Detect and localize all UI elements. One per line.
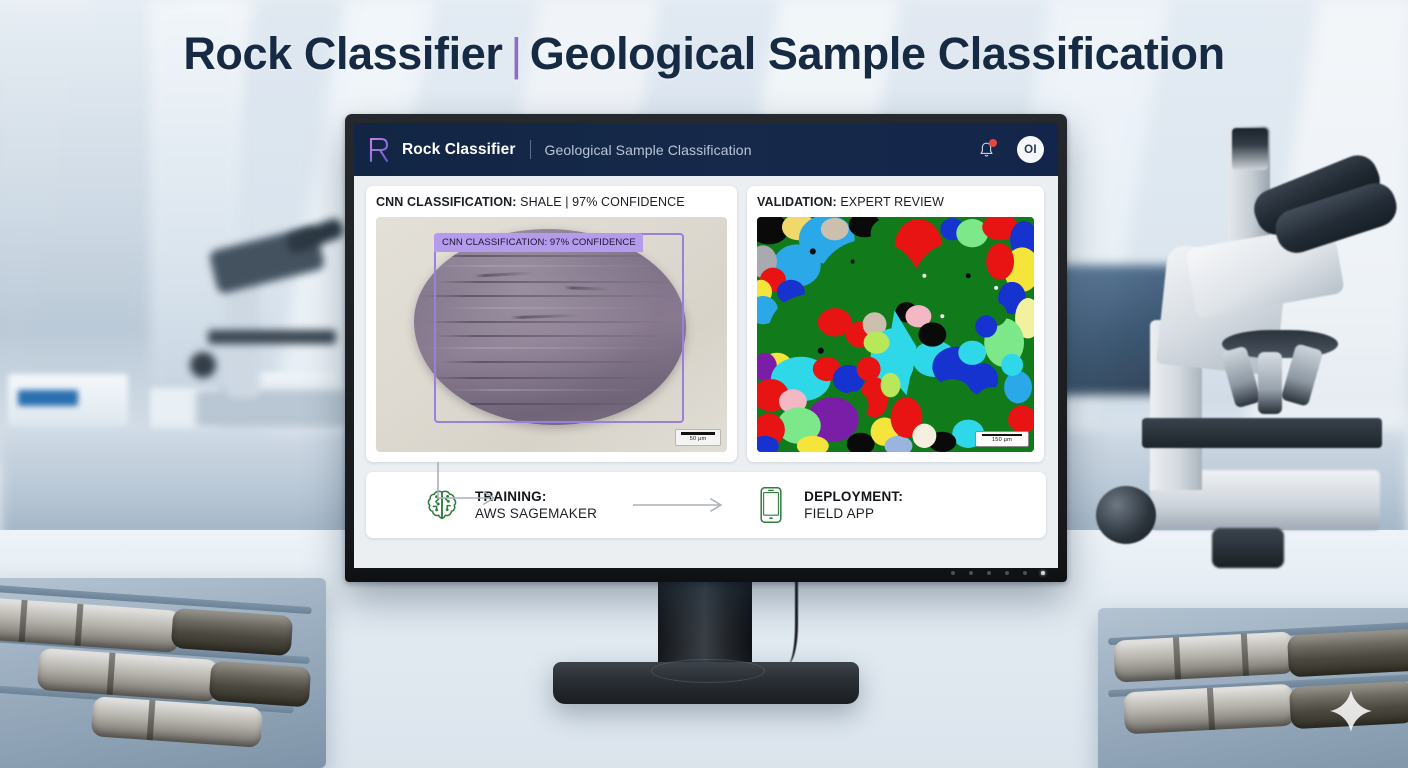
page-title-part2: Geological Sample Classification <box>530 28 1225 79</box>
validation-panel: VALIDATION: EXPERT REVIEW <box>747 186 1044 462</box>
sparkle-watermark-icon <box>1328 688 1374 734</box>
cnn-classification-panel: CNN CLASSIFICATION: SHALE | 97% CONFIDEN… <box>366 186 737 462</box>
notification-bell-icon[interactable] <box>975 138 997 162</box>
sample-scale-bar: 50 µm <box>675 429 721 446</box>
validation-panel-title: VALIDATION: EXPERT REVIEW <box>757 195 1034 209</box>
app-subtitle: Geological Sample Classification <box>545 142 752 158</box>
monitor-button-1[interactable] <box>951 571 955 575</box>
microscope-focus-knob <box>1096 486 1156 544</box>
workflow-step-deployment[interactable]: DEPLOYMENT: FIELD APP <box>751 485 903 525</box>
app-brand-name: Rock Classifier <box>402 141 516 159</box>
page-title-divider: | <box>502 29 529 80</box>
rock-sample-image[interactable]: CNN CLASSIFICATION: 97% CONFIDENCE 50 µm <box>376 217 727 452</box>
rock-core-8 <box>1123 684 1295 735</box>
monitor-button-4[interactable] <box>1005 571 1009 575</box>
elbow-arrow-icon <box>434 462 504 520</box>
cnn-bounding-box-label: CNN CLASSIFICATION: 97% CONFIDENCE <box>434 233 643 252</box>
microscope-camera-port <box>1232 128 1268 170</box>
monitor-button-3[interactable] <box>987 571 991 575</box>
rock-core-7 <box>1287 629 1408 678</box>
workflow-arrow-icon <box>633 496 729 514</box>
page-title: Rock Classifier|Geological Sample Classi… <box>0 28 1408 80</box>
background-microscope-stage <box>208 330 336 344</box>
background-microscope-knob <box>190 352 216 378</box>
rock-core-2 <box>171 608 293 656</box>
map-scale-bar-label: 150 µm <box>992 437 1012 443</box>
monitor-button-5[interactable] <box>1023 571 1027 575</box>
lab-instrument-display <box>18 390 78 406</box>
app-body: CNN CLASSIFICATION: SHALE | 97% CONFIDEN… <box>354 176 1058 568</box>
page-title-part1: Rock Classifier <box>183 28 502 79</box>
workflow-deployment-text: DEPLOYMENT: FIELD APP <box>804 488 903 523</box>
microscope-condenser <box>1212 528 1284 568</box>
header-divider <box>530 140 531 159</box>
monitor-controls[interactable] <box>951 571 1045 575</box>
smartphone-icon <box>751 485 791 525</box>
core-sample-tray-left <box>0 578 326 768</box>
scale-bar-label: 50 µm <box>690 436 707 442</box>
workflow-deployment-value: FIELD APP <box>804 505 903 522</box>
notification-badge <box>989 139 997 147</box>
user-avatar[interactable]: OI <box>1017 136 1044 163</box>
validation-panel-title-label: VALIDATION: <box>757 195 837 209</box>
cnn-bounding-box: CNN CLASSIFICATION: 97% CONFIDENCE <box>434 233 684 423</box>
grain-segmentation-svg <box>757 217 1034 452</box>
map-scale-bar-line <box>982 434 1022 436</box>
cnn-panel-title: CNN CLASSIFICATION: SHALE | 97% CONFIDEN… <box>376 195 727 209</box>
cnn-panel-title-value: SHALE | 97% CONFIDENCE <box>520 195 685 209</box>
scale-bar-line <box>681 432 715 435</box>
app-header: Rock Classifier Geological Sample Classi… <box>354 123 1058 176</box>
monitor-power-led[interactable] <box>1041 571 1045 575</box>
rock-classifier-logo-icon[interactable] <box>366 136 392 164</box>
mineral-grain-map[interactable]: 150 µm <box>757 217 1034 452</box>
lab-scene-background: Rock Classifier|Geological Sample Classi… <box>0 0 1408 768</box>
workflow-deployment-key: DEPLOYMENT: <box>804 488 903 505</box>
panels-row: CNN CLASSIFICATION: SHALE | 97% CONFIDEN… <box>366 186 1046 462</box>
workflow-bar: TRAINING: AWS SAGEMAKER <box>366 472 1046 538</box>
microscope-stage <box>1142 418 1382 448</box>
computer-monitor: Rock Classifier Geological Sample Classi… <box>345 114 1067 582</box>
validation-panel-title-value: EXPERT REVIEW <box>840 195 944 209</box>
background-microscope-base <box>196 390 346 428</box>
cnn-panel-title-label: CNN CLASSIFICATION: <box>376 195 517 209</box>
monitor-base <box>553 662 859 704</box>
monitor-button-2[interactable] <box>969 571 973 575</box>
rock-core-4 <box>209 661 312 708</box>
screen-content: Rock Classifier Geological Sample Classi… <box>354 123 1058 568</box>
map-scale-bar: 150 µm <box>975 431 1029 447</box>
microscope-objective-2 <box>1258 352 1282 414</box>
